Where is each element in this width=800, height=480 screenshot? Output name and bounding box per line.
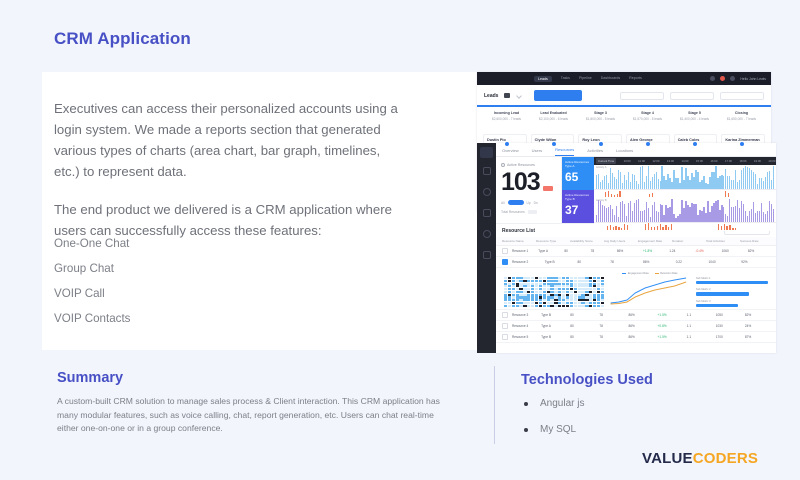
cell-duration: 0.22 bbox=[676, 260, 705, 264]
technologies-list: Angular js My SQL bbox=[524, 398, 584, 450]
chevron-down-icon[interactable] bbox=[517, 93, 523, 99]
column-availability: Availability Score bbox=[570, 239, 600, 243]
stage-closing[interactable]: Closing $1,650,000 - 7 leads bbox=[718, 111, 765, 121]
sub-metric-bars: Sub Metric 1 Sub Metric 2 Sub Metric 3 bbox=[696, 272, 768, 305]
logo-coders: CODERS bbox=[693, 450, 758, 467]
leads-tab-tasks[interactable]: Tasks bbox=[561, 76, 570, 82]
stage-meta: $1,650,000 - 7 leads bbox=[718, 117, 765, 121]
axis-tick: 20:00 bbox=[768, 159, 775, 163]
stage-meta: $2,100,000 - 6 leads bbox=[530, 117, 577, 121]
cell-duration: 1.1 bbox=[687, 324, 712, 328]
cell-success: 82% bbox=[745, 313, 770, 317]
cell-engagement: 86% bbox=[643, 260, 672, 264]
stage-meta: $1,570,000 - 5 leads bbox=[624, 117, 671, 121]
cell-engagement: 86% bbox=[628, 324, 653, 328]
feature-item-voip-call: VOIP Call bbox=[54, 288, 354, 300]
expand-row-icon[interactable] bbox=[502, 334, 508, 340]
feature-item-group-chat: Group Chat bbox=[54, 263, 354, 275]
tech-item-angular: Angular js bbox=[524, 398, 584, 409]
cell-users: 78 bbox=[591, 249, 613, 253]
stage-node-icon bbox=[645, 141, 651, 147]
cell-type: Type B bbox=[541, 313, 566, 317]
column-avg-daily-users: Avg Daily Users bbox=[604, 239, 634, 243]
stage-name: Lead Evaluated bbox=[530, 111, 577, 115]
stage-5[interactable]: Stage 5 $1,400,000 - 4 leads bbox=[671, 111, 718, 121]
event-markers-b bbox=[594, 223, 776, 231]
screenshot-collage: Leads Tasks Pipeline Dashboards Reports … bbox=[435, 28, 775, 353]
histogram-series-a: Activity A bbox=[594, 165, 776, 190]
description-paragraph-2: The end product we delivered is a CRM ap… bbox=[54, 199, 404, 241]
logo-value: VALUE bbox=[642, 450, 693, 467]
cell-users: 78 bbox=[610, 260, 639, 264]
leads-topbar-tabs: Leads Tasks Pipeline Dashboards Reports bbox=[534, 76, 642, 82]
tile-value: 37 bbox=[565, 203, 591, 217]
stage-progress-line bbox=[477, 105, 771, 107]
metric-delta-badge bbox=[543, 186, 553, 191]
cell-engagement-delta: +1.5% bbox=[658, 313, 683, 317]
event-markers-a bbox=[594, 190, 776, 198]
sub-metric-label: Sub Metric 1 bbox=[696, 277, 768, 280]
leads-tab-reports[interactable]: Reports bbox=[629, 76, 642, 82]
tile-type-a[interactable]: Active Resources Type A 65 bbox=[562, 157, 594, 190]
leads-toolbar-title: Leads bbox=[484, 93, 498, 99]
tech-item-mysql: My SQL bbox=[524, 424, 584, 435]
timeline-charts: Current Time 10:00 11:00 12:00 13:00 14:… bbox=[594, 157, 776, 223]
axis-tick: 18:00 bbox=[739, 159, 746, 163]
dashboard-icon[interactable] bbox=[483, 167, 491, 175]
description-paragraph-1: Executives can access their personalized… bbox=[54, 98, 404, 182]
collapse-row-icon[interactable] bbox=[502, 259, 508, 265]
column-duration: Duration bbox=[672, 239, 702, 243]
filter-button[interactable] bbox=[764, 143, 770, 156]
timeline-axis: Current Time 10:00 11:00 12:00 13:00 14:… bbox=[594, 157, 776, 165]
page-title: CRM Application bbox=[54, 29, 191, 49]
toggle-label-dn[interactable]: Dn bbox=[534, 201, 538, 205]
tab-overview[interactable]: Overview bbox=[502, 148, 519, 156]
cell-activities: 1030 bbox=[716, 324, 741, 328]
cell-activities: 1060 bbox=[722, 249, 744, 253]
leads-topbar-actions: Hello John Lewis bbox=[710, 76, 766, 81]
stage-meta: $1,800,000 - 5 leads bbox=[577, 117, 624, 121]
tab-locations[interactable]: Locations bbox=[616, 148, 633, 156]
metric-toggle-group: All Up Dn bbox=[501, 200, 556, 205]
feature-item-one-one-chat: One-One Chat bbox=[54, 238, 354, 250]
leads-tab-pipeline[interactable]: Pipeline bbox=[579, 76, 592, 82]
cell-type: Type B bbox=[541, 335, 566, 339]
column-success-rate: Success Rate bbox=[740, 239, 770, 243]
stage-meta: $2,600,000 - 7 leads bbox=[483, 117, 530, 121]
cell-availability: 80 bbox=[570, 335, 595, 339]
stage-name: Closing bbox=[718, 111, 765, 115]
cell-users: 78 bbox=[599, 313, 624, 317]
activity-heatmap bbox=[504, 272, 604, 305]
dashboard-hero: Active Resources 103 All Up Dn bbox=[496, 157, 776, 223]
stage-name: Incoming Lead bbox=[483, 111, 530, 115]
main-content-card: Executives can access their personalized… bbox=[42, 72, 758, 350]
column-resource-type: Resource Type bbox=[536, 239, 566, 243]
cell-activities: 1050 bbox=[716, 313, 741, 317]
stage-node-icon bbox=[692, 141, 698, 147]
create-lead-button[interactable] bbox=[534, 90, 582, 101]
filter-agency-select[interactable] bbox=[620, 92, 664, 100]
cell-type: Type B bbox=[545, 260, 574, 264]
stage-meta: $1,400,000 - 4 leads bbox=[671, 117, 718, 121]
leads-stage-track: Incoming Lead $2,600,000 - 7 leads Lead … bbox=[477, 107, 771, 121]
notification-icon[interactable] bbox=[720, 76, 725, 81]
help-icon[interactable] bbox=[730, 76, 735, 81]
view-toggle-icon[interactable] bbox=[504, 93, 510, 98]
technologies-heading: Technologies Used bbox=[521, 372, 653, 388]
feature-list: One-One Chat Group Chat VOIP Call VOIP C… bbox=[54, 238, 354, 338]
leads-tab-leads[interactable]: Leads bbox=[534, 76, 552, 82]
app-logo-icon[interactable] bbox=[480, 147, 493, 158]
sub-metric-label: Sub Metric 3 bbox=[696, 300, 768, 303]
cell-availability: 80 bbox=[578, 260, 607, 264]
active-resources-metric: Active Resources 103 All Up Dn bbox=[496, 157, 562, 223]
cell-users: 78 bbox=[599, 324, 624, 328]
cell-type: Type A bbox=[541, 324, 566, 328]
users-icon[interactable] bbox=[483, 188, 491, 196]
axis-tick: 15:00 bbox=[696, 159, 703, 163]
cell-success: 24% bbox=[745, 324, 770, 328]
tile-label: Active Resources Type A bbox=[565, 160, 591, 168]
metric-label-row: Active Resources bbox=[501, 163, 556, 167]
user-menu-label[interactable]: Hello John Lewis bbox=[740, 77, 766, 81]
tab-users[interactable]: Users bbox=[532, 148, 542, 156]
cell-name: Resource 1 bbox=[512, 249, 534, 253]
tile-type-b[interactable]: Active Resources Type B 37 bbox=[562, 190, 594, 223]
resource-type-tiles: Active Resources Type A 65 Active Resour… bbox=[562, 157, 594, 223]
cell-name: Resource 3 bbox=[512, 313, 537, 317]
expand-row-icon[interactable] bbox=[502, 248, 508, 254]
description-block: Executives can access their personalized… bbox=[54, 98, 404, 241]
settings-icon[interactable] bbox=[483, 230, 491, 238]
cell-success: 92% bbox=[741, 260, 770, 264]
total-resources-value bbox=[528, 210, 537, 214]
tile-value: 65 bbox=[565, 170, 591, 184]
axis-tick: 12:00 bbox=[652, 159, 659, 163]
valuecoders-logo: VALUECODERS bbox=[642, 450, 758, 467]
cell-users: 78 bbox=[599, 335, 624, 339]
metric-value-row: 103 bbox=[501, 169, 556, 195]
cell-name: Resource 5 bbox=[512, 335, 537, 339]
leads-filter-group bbox=[620, 92, 764, 100]
expanded-row-detail: Engagement Rate Retention Rate Sub Metri… bbox=[496, 268, 776, 310]
cell-name: Resource 4 bbox=[512, 324, 537, 328]
column-engagement-rate: Engagement Rate bbox=[638, 239, 668, 243]
cell-engagement: 86% bbox=[617, 249, 639, 253]
cell-engagement: 86% bbox=[628, 335, 653, 339]
expand-row-icon[interactable] bbox=[502, 323, 508, 329]
cell-engagement-delta: +1.8% bbox=[643, 249, 665, 253]
tile-label: Active Resources Type B bbox=[565, 193, 591, 201]
sub-metric-label: Sub Metric 2 bbox=[696, 288, 768, 291]
reports-icon[interactable] bbox=[483, 209, 491, 217]
sub-metric-bar bbox=[696, 292, 749, 295]
line-chart-svg bbox=[609, 275, 691, 305]
stage-node-icon bbox=[598, 141, 604, 147]
app-icon-sidebar bbox=[477, 143, 496, 353]
toggle-switch[interactable] bbox=[508, 200, 524, 205]
cell-success: 87% bbox=[745, 335, 770, 339]
sub-metric-row: Sub Metric 1 bbox=[696, 277, 768, 284]
histogram-bars bbox=[596, 165, 774, 189]
cell-duration: 1.1 bbox=[687, 335, 712, 339]
feature-item-voip-contacts: VOIP Contacts bbox=[54, 313, 354, 325]
sub-metric-row: Sub Metric 3 bbox=[696, 300, 768, 307]
section-divider bbox=[494, 366, 495, 444]
cell-engagement-delta: +1.5% bbox=[658, 335, 683, 339]
table-row[interactable]: Resource 1 Type A 80 78 86% +1.8% 1.24 -… bbox=[496, 246, 776, 257]
stage-incoming-lead[interactable]: Incoming Lead $2,600,000 - 7 leads bbox=[483, 111, 530, 121]
axis-tick: 19:00 bbox=[754, 159, 761, 163]
cell-name: Resource 2 bbox=[512, 260, 541, 264]
table-row[interactable]: Resource 4 Type A 80 78 86% +0.8% 1.1 10… bbox=[496, 321, 776, 332]
search-icon bbox=[501, 163, 505, 167]
axis-tick: 14:00 bbox=[681, 159, 688, 163]
screenshot-resources-dashboard: Overview Users Resources Activities Loca… bbox=[496, 143, 776, 353]
stage-4[interactable]: Stage 4 $1,570,000 - 5 leads bbox=[624, 111, 671, 121]
column-total-activities: Total Activities bbox=[706, 239, 736, 243]
sub-metric-bar bbox=[696, 304, 738, 307]
metric-label: Active Resources bbox=[507, 163, 535, 167]
stage-node-icon bbox=[739, 141, 745, 147]
slide-page: CRM Application Executives can access th… bbox=[0, 0, 800, 480]
stage-name: Stage 3 bbox=[577, 111, 624, 115]
stage-name: Stage 4 bbox=[624, 111, 671, 115]
histogram-bars bbox=[596, 198, 774, 222]
axis-tick: 11:00 bbox=[638, 159, 645, 163]
cell-availability: 80 bbox=[570, 324, 595, 328]
stage-node-icon bbox=[504, 141, 510, 147]
funnel-icon bbox=[764, 143, 770, 153]
filter-agent-select[interactable] bbox=[670, 92, 714, 100]
resource-list-columns: Resource Name Resource Type Availability… bbox=[496, 237, 776, 246]
search-icon[interactable] bbox=[710, 76, 715, 81]
tab-resources[interactable]: Resources bbox=[555, 147, 574, 156]
cell-availability: 80 bbox=[570, 313, 595, 317]
cell-duration: 1.1 bbox=[687, 313, 712, 317]
cell-availability: 80 bbox=[564, 249, 586, 253]
toggle-label-up[interactable]: Up bbox=[527, 201, 531, 205]
table-row[interactable]: Resource 5 Type B 80 78 86% +1.5% 1.1 17… bbox=[496, 332, 776, 343]
leads-tab-dashboards[interactable]: Dashboards bbox=[601, 76, 620, 82]
total-resources-row: Total Resources bbox=[501, 210, 556, 214]
stage-name: Stage 5 bbox=[671, 111, 718, 115]
cell-duration: 1.24 bbox=[669, 249, 691, 253]
axis-tick: 16:00 bbox=[710, 159, 717, 163]
cell-type: Type A bbox=[538, 249, 560, 253]
histogram-series-b: Activity B bbox=[594, 198, 776, 223]
files-icon[interactable] bbox=[483, 251, 491, 259]
dashboard-tabbar: Overview Users Resources Activities Loca… bbox=[496, 143, 776, 157]
axis-tick: 17:00 bbox=[725, 159, 732, 163]
stage-node-icon bbox=[551, 141, 557, 147]
stage-3[interactable]: Stage 3 $1,800,000 - 5 leads bbox=[577, 111, 624, 121]
toggle-label-all: All bbox=[501, 201, 505, 205]
cell-success: 82% bbox=[748, 249, 770, 253]
table-row[interactable]: Resource 3 Type B 80 78 86% +1.5% 1.1 10… bbox=[496, 310, 776, 321]
summary-text: A custom-built CRM solution to manage sa… bbox=[57, 395, 457, 436]
axis-tick: 13:00 bbox=[667, 159, 674, 163]
cell-engagement: 86% bbox=[628, 313, 653, 317]
stage-lead-evaluated[interactable]: Lead Evaluated $2,100,000 - 6 leads bbox=[530, 111, 577, 121]
axis-tick: 10:00 bbox=[624, 159, 631, 163]
metric-value: 103 bbox=[501, 169, 540, 195]
cell-activities: 1040 bbox=[709, 260, 738, 264]
cell-duration-delta: -0.4% bbox=[695, 249, 717, 253]
leads-toolbar: Leads bbox=[477, 85, 771, 107]
sub-metric-bar bbox=[696, 281, 768, 284]
cell-activities: 1700 bbox=[716, 335, 741, 339]
tab-activities[interactable]: Activities bbox=[587, 148, 603, 156]
leads-topbar: Leads Tasks Pipeline Dashboards Reports … bbox=[477, 72, 771, 85]
expand-row-icon[interactable] bbox=[502, 312, 508, 318]
rate-line-chart: Engagement Rate Retention Rate bbox=[609, 272, 691, 305]
total-resources-label: Total Resources bbox=[501, 210, 525, 214]
resource-list-title: Resource List bbox=[502, 228, 535, 234]
sub-metric-row: Sub Metric 2 bbox=[696, 288, 768, 295]
filter-status-select[interactable] bbox=[720, 92, 764, 100]
column-resource-name: Resource Name bbox=[502, 239, 532, 243]
cell-engagement-delta: +0.8% bbox=[658, 324, 683, 328]
summary-heading: Summary bbox=[57, 370, 123, 386]
current-time-label: Current Time bbox=[596, 158, 616, 164]
table-row[interactable]: Resource 2 Type B 80 78 86% 0.22 1040 92… bbox=[496, 257, 776, 268]
